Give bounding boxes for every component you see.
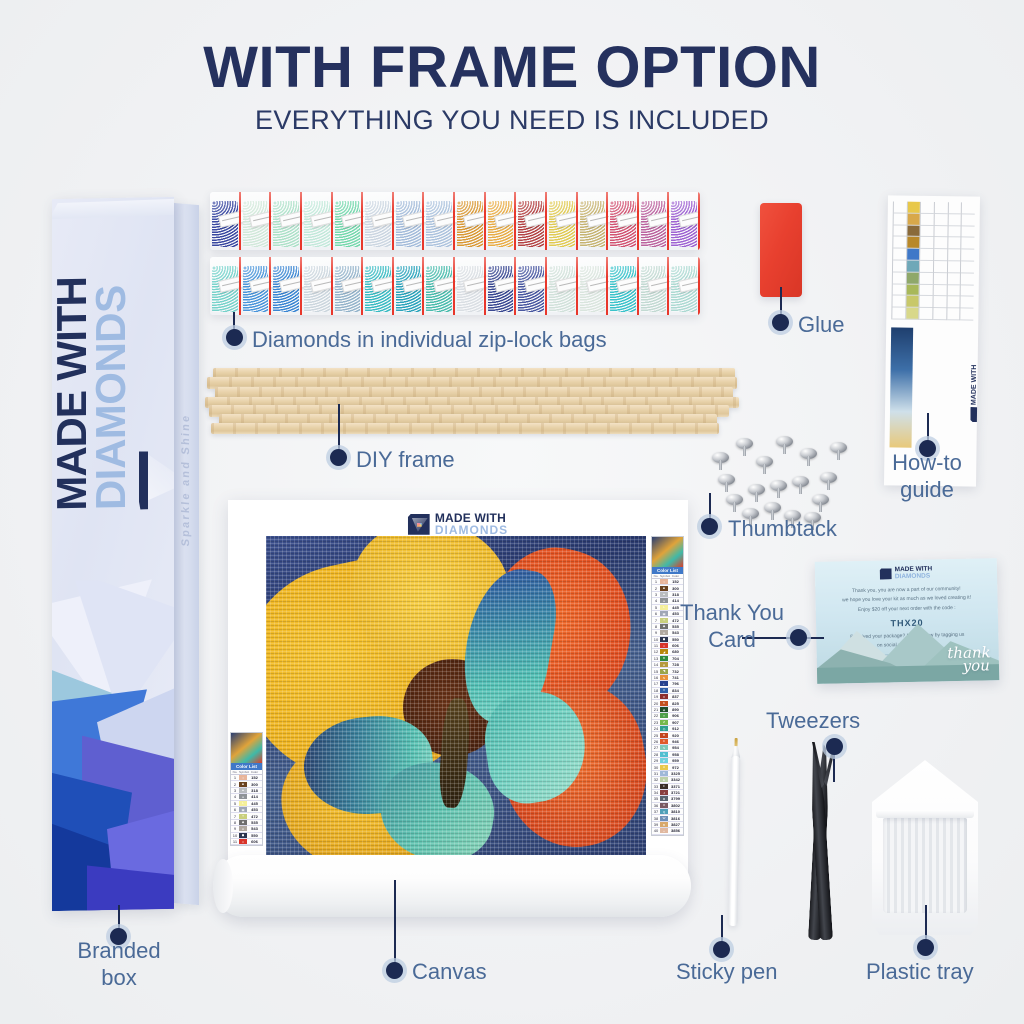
color-swatch: S [660, 745, 668, 750]
pen-dot [713, 941, 730, 958]
plastic-sheen [516, 192, 547, 250]
ziplock-bag [210, 192, 241, 250]
color-swatch: ▣ [660, 611, 668, 616]
callout-plastic-tray: Plastic tray [866, 959, 974, 985]
color-swatch: P [660, 758, 668, 763]
color-swatch: ◐ [660, 681, 668, 686]
color-row-number: 4 [652, 598, 660, 603]
callout-tweezers: Tweezers [766, 708, 860, 734]
color-code: 445 [247, 801, 262, 806]
ziplock-bag [241, 257, 272, 315]
color-row-number: 9 [231, 826, 239, 831]
page-title: WITH FRAME OPTION [0, 34, 1024, 101]
guide-brand-logo: MADE WITH DIAMONDS [970, 365, 980, 423]
plastic-sheen [210, 192, 241, 250]
color-code: 728 [668, 662, 683, 667]
color-row-number: 14 [652, 662, 660, 667]
glue-product [760, 203, 802, 297]
color-row-number: 1 [231, 775, 239, 780]
color-list-row: 11□606 [231, 839, 262, 845]
color-code: 732 [668, 669, 683, 674]
color-swatch: Q [660, 809, 668, 814]
color-code: 152 [668, 579, 683, 584]
color-code: 414 [247, 794, 262, 799]
color-row-number: 11 [652, 643, 660, 648]
plastic-sheen [302, 192, 333, 250]
color-row-number: 18 [652, 688, 660, 693]
ziplock-bag [302, 192, 333, 250]
color-list-title: Color List [231, 763, 262, 770]
color-swatch: ■ [239, 782, 247, 787]
color-row-number: 38 [652, 816, 660, 821]
color-row-number: 21 [652, 707, 660, 712]
ziplock-bag [271, 257, 302, 315]
ziplock-bag [241, 192, 272, 250]
guide-color-chart [891, 201, 975, 320]
color-row-number: 8 [652, 624, 660, 629]
plastic-sheen [394, 192, 425, 250]
color-code: 472 [247, 814, 262, 819]
plastic-sheen [669, 257, 700, 315]
box-brand-lockup: MADE WITH DIAMONDS [52, 203, 148, 525]
ziplock-bag [333, 257, 364, 315]
callout-diy-frame: DIY frame [356, 447, 455, 473]
box-tagline: Sparkle and Shine [180, 389, 192, 570]
color-swatch: C [660, 739, 668, 744]
tweezers-dot [826, 738, 843, 755]
card-brand-logo: MADE WITH DIAMONDS [880, 566, 933, 580]
pen-body [728, 756, 740, 926]
brand-name-secondary: DIAMONDS [91, 285, 130, 510]
ziplock-bag [669, 257, 700, 315]
thumbtack-dot [701, 518, 718, 535]
color-code: 954 [668, 745, 683, 750]
color-code: 825 [668, 701, 683, 706]
diamond-gem-icon [880, 568, 892, 579]
color-code: 959 [668, 758, 683, 763]
color-row-number: 40 [652, 828, 660, 833]
color-swatch: K [660, 701, 668, 706]
color-list-rows-left: 1I1522■3003▲3184●4145L4456▣4537T4728◆535… [231, 775, 262, 845]
tray-grooves [883, 818, 967, 913]
color-code: 834 [668, 688, 683, 693]
color-code: 3856 [668, 828, 683, 833]
color-swatch: H [660, 662, 668, 667]
canvas-artwork [266, 536, 646, 860]
infographic-canvas: WITH FRAME OPTION EVERYTHING YOU NEED IS… [0, 0, 1024, 1024]
callout-branded-box: Branded box [48, 938, 190, 992]
color-row-number: 15 [652, 669, 660, 674]
color-row-number: 2 [231, 782, 239, 787]
callout-canvas: Canvas [412, 959, 487, 985]
color-swatch: L [660, 605, 668, 610]
guide-cover-photo [890, 327, 914, 447]
ziplock-bag [639, 192, 670, 250]
tweezers-product [800, 740, 846, 940]
low-poly-pattern [52, 579, 174, 911]
color-swatch: A [660, 630, 668, 635]
color-row-number: 11 [231, 839, 239, 844]
callout-diamond-bags: Diamonds in individual zip-lock bags [252, 327, 607, 353]
color-swatch: ◼ [660, 637, 668, 642]
color-swatch: ▲ [239, 788, 247, 793]
plastic-sheen [547, 257, 578, 315]
color-list-row: 40+3856 [652, 828, 683, 834]
ziplock-bag [669, 192, 700, 250]
color-list-title: Color List [652, 567, 683, 574]
callout-thumbtack: Thumbtack [728, 516, 837, 542]
ziplock-bag [333, 192, 364, 250]
color-code: 796 [668, 681, 683, 686]
color-row-number: 7 [231, 814, 239, 819]
color-swatch: L [239, 801, 247, 806]
color-code: 906 [668, 713, 683, 718]
color-swatch: T [660, 618, 668, 623]
color-row-number: 1 [652, 579, 660, 584]
ziplock-bag [547, 257, 578, 315]
color-row-number: 4 [231, 794, 239, 799]
color-code: 3721 [668, 790, 683, 795]
color-swatch: V [660, 688, 668, 693]
color-code: 3802 [668, 803, 683, 808]
color-code: 741 [668, 675, 683, 680]
plastic-sheen [363, 257, 394, 315]
color-row-number: 39 [652, 822, 660, 827]
color-row-number: 27 [652, 745, 660, 750]
color-swatch: + [660, 828, 668, 833]
ziplock-bag [302, 257, 333, 315]
ziplock-bag [363, 192, 394, 250]
color-row-number: 37 [652, 809, 660, 814]
color-swatch: □ [660, 643, 668, 648]
color-swatch: ▣ [239, 807, 247, 812]
canvas-sheet: MADE WITH DIAMONDS [228, 500, 688, 880]
plastic-sheen [578, 192, 609, 250]
color-swatch: ◆ [660, 624, 668, 629]
color-swatch: X [660, 694, 668, 699]
brand-name-primary: MADE WITH [52, 277, 91, 511]
tray-dot [917, 939, 934, 956]
color-code: 318 [668, 592, 683, 597]
color-row-number: 28 [652, 752, 660, 757]
color-swatch: ◢ [660, 649, 668, 654]
glue-dot [772, 314, 789, 331]
color-code: 535 [247, 820, 262, 825]
color-swatch: N [660, 675, 668, 680]
plastic-sheen [241, 192, 272, 250]
color-swatch: I [660, 579, 668, 584]
color-row-number: 29 [652, 758, 660, 763]
color-row-number: 24 [652, 726, 660, 731]
color-swatch: ◈ [660, 707, 668, 712]
plastic-sheen [424, 192, 455, 250]
ziplock-bag [210, 257, 241, 315]
plastic-sheen [669, 192, 700, 250]
color-swatch: □ [239, 839, 247, 844]
color-swatch: ◆ [239, 820, 247, 825]
color-code: 606 [247, 839, 262, 844]
plastic-sheen [455, 257, 486, 315]
box-front-panel: MADE WITH DIAMONDS [52, 197, 174, 911]
plastic-sheen [302, 257, 333, 315]
color-code: 958 [668, 752, 683, 757]
color-row-number: 32 [652, 777, 660, 782]
color-code: 300 [247, 782, 262, 787]
plastic-sheen [271, 257, 302, 315]
ziplock-bag [516, 257, 547, 315]
color-row-number: 9 [652, 630, 660, 635]
plastic-sheen [639, 192, 670, 250]
callout-glue: Glue [798, 312, 844, 338]
branded-box-product: Sparkle and Shine MADE WITH DIAMONDS [52, 190, 202, 918]
color-row-number: 17 [652, 681, 660, 686]
color-code: 890 [668, 707, 683, 712]
color-row-number: 20 [652, 701, 660, 706]
color-row-number: 5 [652, 605, 660, 610]
diamond-pixel-grid [266, 536, 646, 860]
color-swatch: Y [660, 713, 668, 718]
color-swatch: D [660, 771, 668, 776]
color-swatch: I [239, 775, 247, 780]
ziplock-bag [486, 192, 517, 250]
ziplock-bag [608, 257, 639, 315]
canvas-rolled-bottom [213, 855, 691, 917]
color-code: 704 [668, 656, 683, 661]
color-row-number: 25 [652, 733, 660, 738]
color-swatch: B [660, 822, 668, 827]
color-swatch: M [660, 796, 668, 801]
color-swatch: ★ [660, 656, 668, 661]
plastic-sheen [394, 257, 425, 315]
color-row-number: 3 [652, 592, 660, 597]
ziplock-bag [424, 192, 455, 250]
color-row-number: 30 [652, 765, 660, 770]
thank-you-card-dot [790, 629, 807, 646]
ziplock-bag [639, 257, 670, 315]
sticky-pen-product [725, 738, 742, 928]
box-side-panel: Sparkle and Shine [173, 203, 199, 905]
color-code: 300 [668, 586, 683, 591]
color-swatch: O [660, 803, 668, 808]
plastic-sheen [578, 257, 609, 315]
color-swatch: ▲ [660, 592, 668, 597]
color-row-number: 22 [652, 713, 660, 718]
color-code: 3342 [668, 777, 683, 782]
tray-leader [925, 905, 927, 943]
color-code: 3325 [668, 771, 683, 776]
color-row-number: 8 [231, 820, 239, 825]
color-swatch: E [660, 777, 668, 782]
plastic-sheen [516, 257, 547, 315]
diamond-gem-icon [970, 407, 980, 422]
color-swatch: R [660, 733, 668, 738]
bags-dot [226, 329, 243, 346]
color-code: 318 [247, 788, 262, 793]
plastic-sheen [333, 192, 364, 250]
plastic-sheen [639, 257, 670, 315]
canvas-leader [394, 880, 396, 968]
color-row-number: 34 [652, 790, 660, 795]
color-row-number: 16 [652, 675, 660, 680]
diamond-gem-icon [139, 451, 148, 509]
plastic-sheen [486, 192, 517, 250]
color-code: 912 [668, 726, 683, 731]
color-row-number: 31 [652, 771, 660, 776]
plastic-sheen [608, 257, 639, 315]
ziplock-bag [486, 257, 517, 315]
color-swatch: ◎ [660, 726, 668, 731]
color-row-number: 35 [652, 796, 660, 801]
color-row-number: 6 [652, 611, 660, 616]
frame-slat [211, 423, 719, 434]
plastic-sheen [241, 257, 272, 315]
plastic-sheen [333, 257, 364, 315]
canvas-dot [386, 962, 403, 979]
glue-leader [780, 287, 782, 317]
color-swatch: U [660, 765, 668, 770]
color-swatch: A [239, 826, 247, 831]
color-code: 3810 [668, 809, 683, 814]
color-row-number: 13 [652, 656, 660, 661]
thank-you-card-product: MADE WITH DIAMONDS Thank you, you are no… [815, 558, 1000, 684]
ziplock-bag [455, 192, 486, 250]
ziplock-bag [547, 192, 578, 250]
color-code: 3371 [668, 784, 683, 789]
color-code: 946 [668, 739, 683, 744]
plastic-sheen [547, 192, 578, 250]
color-code: 152 [247, 775, 262, 780]
color-list-left: Color List No. Symbol Color 1I1522■3003▲… [230, 732, 263, 846]
callout-sticky-pen: Sticky pen [676, 959, 778, 985]
color-list-right: Color List No. Symbol Color 1I1522■3003▲… [651, 536, 684, 836]
color-code: 550 [247, 833, 262, 838]
diy-frame-product [205, 368, 740, 444]
color-row-number: 2 [652, 586, 660, 591]
color-code: 543 [247, 826, 262, 831]
color-swatch: ● [660, 598, 668, 603]
color-row-number: 36 [652, 803, 660, 808]
color-swatch: ◥ [660, 669, 668, 674]
color-swatch: ■ [660, 586, 668, 591]
canvas-scalloped-edge [228, 500, 688, 506]
color-swatch: W [660, 816, 668, 821]
color-code: 3827 [668, 822, 683, 827]
color-swatch: ● [239, 794, 247, 799]
plastic-sheen [271, 192, 302, 250]
ziplock-bag [516, 192, 547, 250]
frame-dot [330, 449, 347, 466]
color-code: 920 [668, 733, 683, 738]
plastic-sheen [424, 257, 455, 315]
guide-leader [927, 413, 929, 443]
color-row-number: 7 [652, 618, 660, 623]
color-swatch: Z [660, 720, 668, 725]
ziplock-bag [271, 192, 302, 250]
ziplock-bag-row-bottom [210, 257, 700, 315]
ziplock-bag [578, 192, 609, 250]
color-swatch: G [660, 752, 668, 757]
plastic-sheen [455, 192, 486, 250]
thumbtack-product [712, 432, 848, 528]
ziplock-bag-row-top [210, 192, 700, 250]
callout-how-to-guide: How-to guide [862, 450, 992, 504]
ziplock-bag [455, 257, 486, 315]
plastic-sheen [608, 192, 639, 250]
callout-thank-you-card: Thank You Card [676, 600, 788, 654]
canvas-brand-logo: MADE WITH DIAMONDS [408, 512, 508, 536]
card-signature: thank you [947, 646, 991, 673]
color-code: 3799 [668, 796, 683, 801]
color-row-number: 6 [231, 807, 239, 812]
color-row-number: 10 [652, 637, 660, 642]
ziplock-bag [608, 192, 639, 250]
frame-leader [338, 404, 340, 452]
card-message: Thank you, you are now a part of our com… [831, 584, 982, 615]
plastic-sheen [363, 192, 394, 250]
page-subtitle: EVERYTHING YOU NEED IS INCLUDED [0, 105, 1024, 136]
ziplock-bag [424, 257, 455, 315]
ziplock-bag [363, 257, 394, 315]
ziplock-bag [394, 192, 425, 250]
ziplock-bag [394, 257, 425, 315]
plastic-sheen [486, 257, 517, 315]
color-row-number: 10 [231, 833, 239, 838]
color-code: 907 [668, 720, 683, 725]
color-swatch: F [660, 784, 668, 789]
color-swatch: T [239, 814, 247, 819]
color-code: 837 [668, 694, 683, 699]
color-row-number: 19 [652, 694, 660, 699]
artwork-thumbnail [652, 537, 683, 567]
color-row-number: 23 [652, 720, 660, 725]
color-code: 3816 [668, 816, 683, 821]
diamond-gem-icon [408, 514, 430, 535]
plastic-sheen [210, 257, 241, 315]
color-row-number: 12 [652, 649, 660, 654]
ziplock-bag [578, 257, 609, 315]
color-row-number: 26 [652, 739, 660, 744]
artwork-thumbnail [231, 733, 262, 763]
color-code: 972 [668, 765, 683, 770]
color-row-number: 5 [231, 801, 239, 806]
tray-lip [876, 810, 974, 818]
color-row-number: 33 [652, 784, 660, 789]
canvas-product: MADE WITH DIAMONDS [228, 500, 688, 880]
color-code: 453 [247, 807, 262, 812]
color-swatch: J [660, 790, 668, 795]
color-row-number: 3 [231, 788, 239, 793]
thumbtack-leader [709, 493, 711, 521]
color-swatch: ◼ [239, 833, 247, 838]
